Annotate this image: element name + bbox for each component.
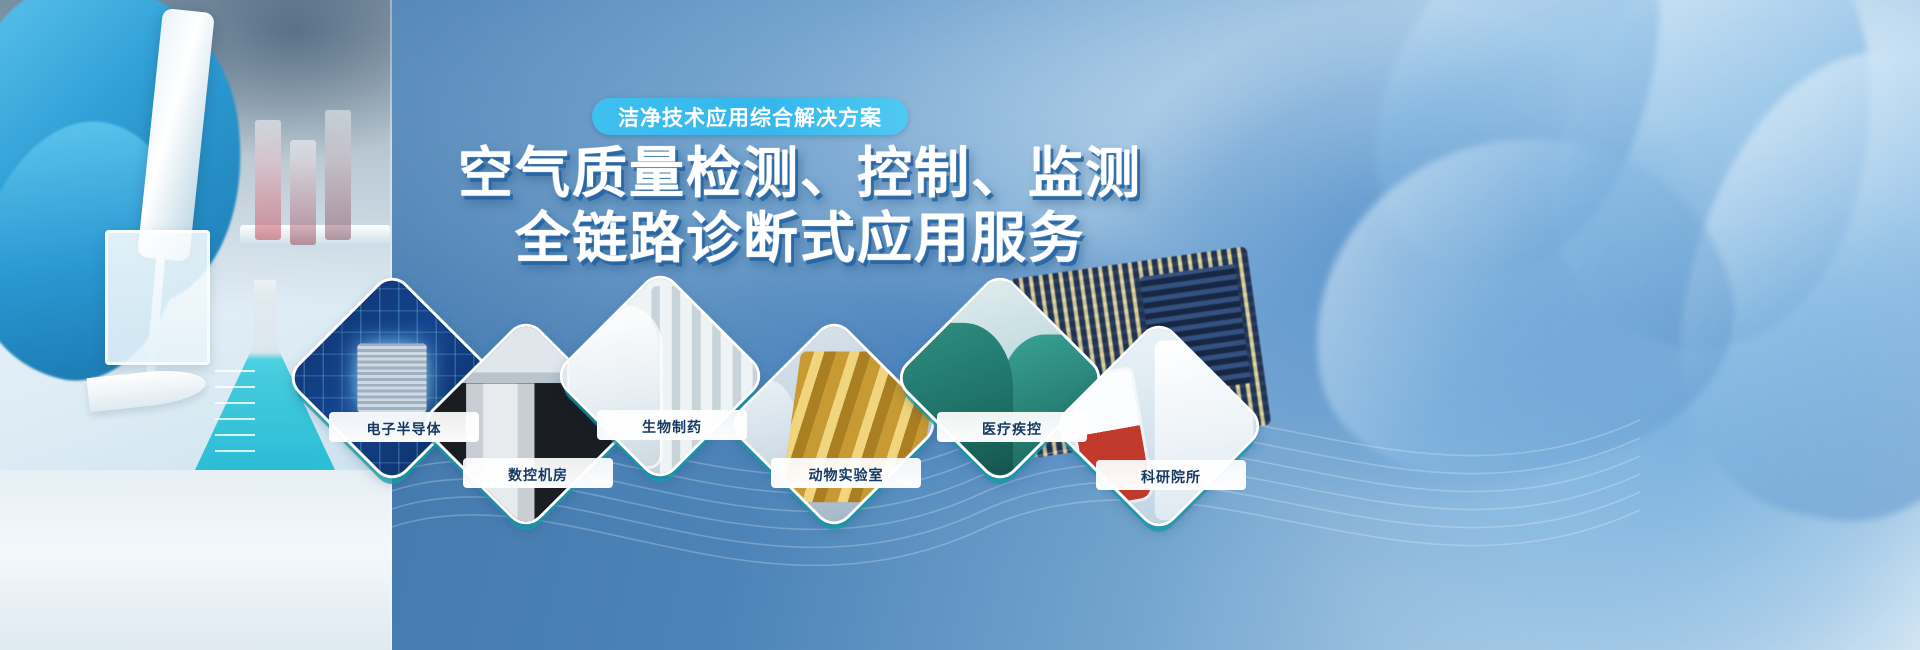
card-image-animal-lab bbox=[729, 319, 938, 528]
industry-card-row: 电子半导体 数控机房 生物制药 动物实验室 医疗疾控 科研院所 bbox=[0, 0, 1920, 650]
hero-banner: 洁净技术应用综合解决方案 空气质量检测、控制、监测 全链路诊断式应用服务 电子半… bbox=[0, 0, 1920, 650]
industry-label-biopharma: 生物制药 bbox=[597, 417, 747, 437]
industry-label-medical: 医疗疾控 bbox=[937, 419, 1087, 439]
industry-card-medical[interactable] bbox=[895, 273, 1104, 482]
industry-card-animal-lab[interactable] bbox=[729, 319, 938, 528]
industry-label-research: 科研院所 bbox=[1096, 467, 1246, 487]
industry-label-datacenter: 数控机房 bbox=[463, 465, 613, 485]
industry-label-semiconductor: 电子半导体 bbox=[329, 419, 479, 439]
industry-label-animal-lab: 动物实验室 bbox=[771, 465, 921, 485]
card-image-medical bbox=[895, 273, 1104, 482]
